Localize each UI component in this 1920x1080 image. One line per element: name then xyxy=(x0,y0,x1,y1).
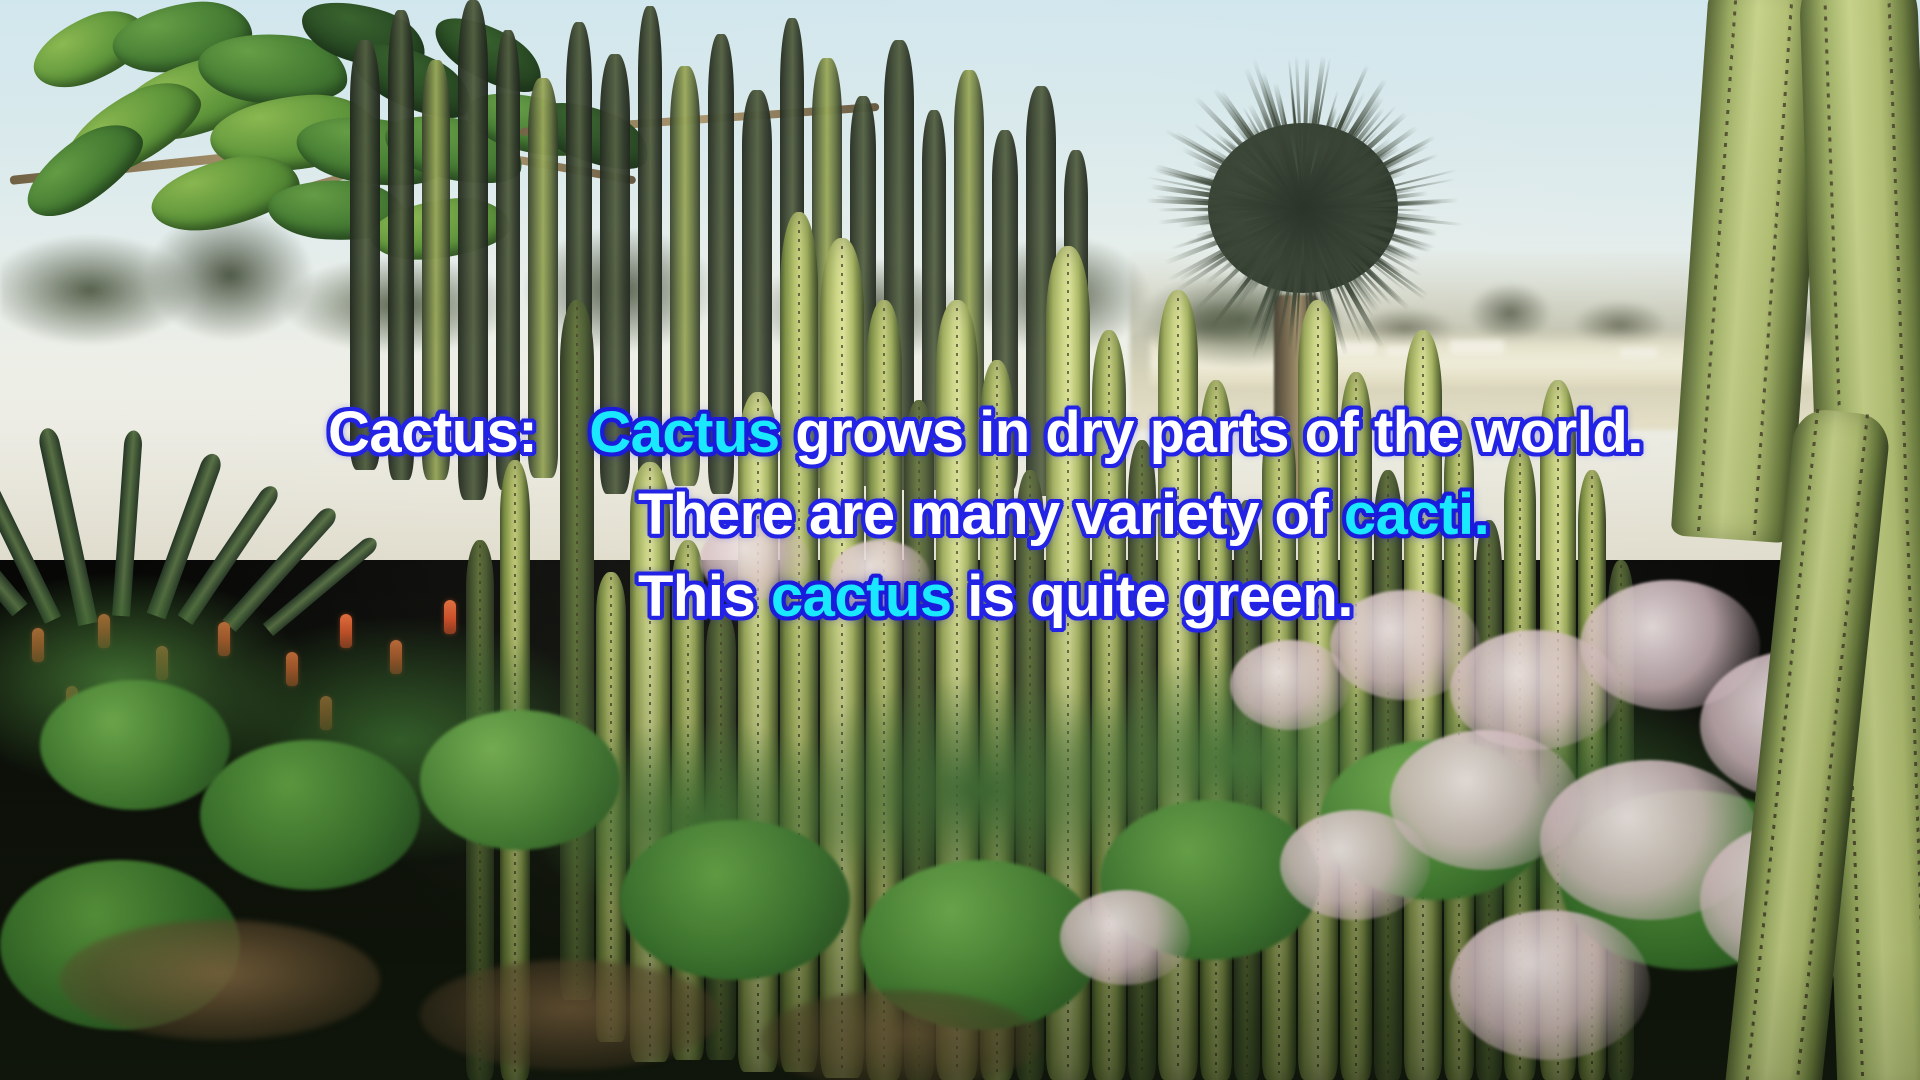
video-frame: Cactus: Cactus grows in dry parts of the… xyxy=(0,0,1920,1080)
sentence-text-line1: grows in dry parts of the world. xyxy=(780,404,1643,462)
highlight-word-line3: cactus xyxy=(771,568,952,626)
sentence-text-line2: There are many variety of xyxy=(638,486,1344,544)
caption-line-3: This cactus is quite green. xyxy=(0,568,1920,626)
caption-line-1: Cactus: Cactus grows in dry parts of the… xyxy=(0,404,1920,462)
sentence-text-line3-post: is quite green. xyxy=(952,568,1353,626)
sentence-text-line3-pre: This xyxy=(638,568,771,626)
highlight-word-line2: cacti. xyxy=(1344,486,1489,544)
caption-overlay: Cactus: Cactus grows in dry parts of the… xyxy=(0,404,1920,626)
succulent-groundcover xyxy=(0,560,1920,1080)
caption-line-2: There are many variety of cacti. xyxy=(0,486,1920,544)
highlight-word-line1: Cactus xyxy=(589,404,779,462)
vocabulary-word-label: Cactus: xyxy=(328,404,537,462)
